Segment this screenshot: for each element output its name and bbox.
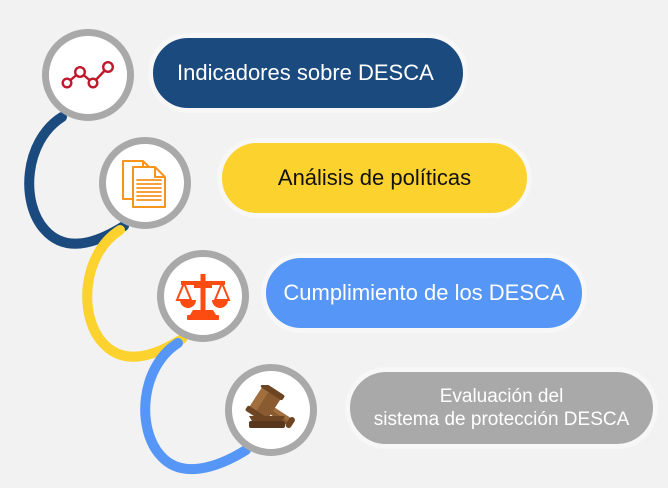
step-label-text-1: Indicadores sobre DESCA <box>153 60 463 87</box>
step-node-4[interactable] <box>225 364 317 456</box>
documents-icon <box>119 156 171 210</box>
step-node-3[interactable] <box>157 250 249 342</box>
step-label-pill-2[interactable]: Análisis de políticas <box>217 138 532 218</box>
step-label-pill-4[interactable]: Evaluación del sistema de protección DES… <box>345 367 658 449</box>
step-label-text-4-line1: Evaluación del <box>440 386 564 407</box>
step-label-text-2: Análisis de políticas <box>222 165 527 192</box>
step-label-pill-1[interactable]: Indicadores sobre DESCA <box>148 33 468 113</box>
step-label-text-4-line2: sistema de protección DESCA <box>374 409 630 430</box>
balance-scales-icon <box>175 270 231 322</box>
step-label-pill-3[interactable]: Cumplimiento de los DESCA <box>261 253 587 333</box>
step-node-2[interactable] <box>99 137 191 229</box>
gavel-icon <box>243 385 299 435</box>
diagram-canvas: Indicadores sobre DESCA Análisis de polí… <box>0 0 668 488</box>
step-node-1[interactable] <box>42 29 134 121</box>
step-label-text-3: Cumplimiento de los DESCA <box>266 280 582 307</box>
step-label-text-4: Evaluación del sistema de protección DES… <box>350 385 653 431</box>
line-chart-icon <box>60 55 116 95</box>
